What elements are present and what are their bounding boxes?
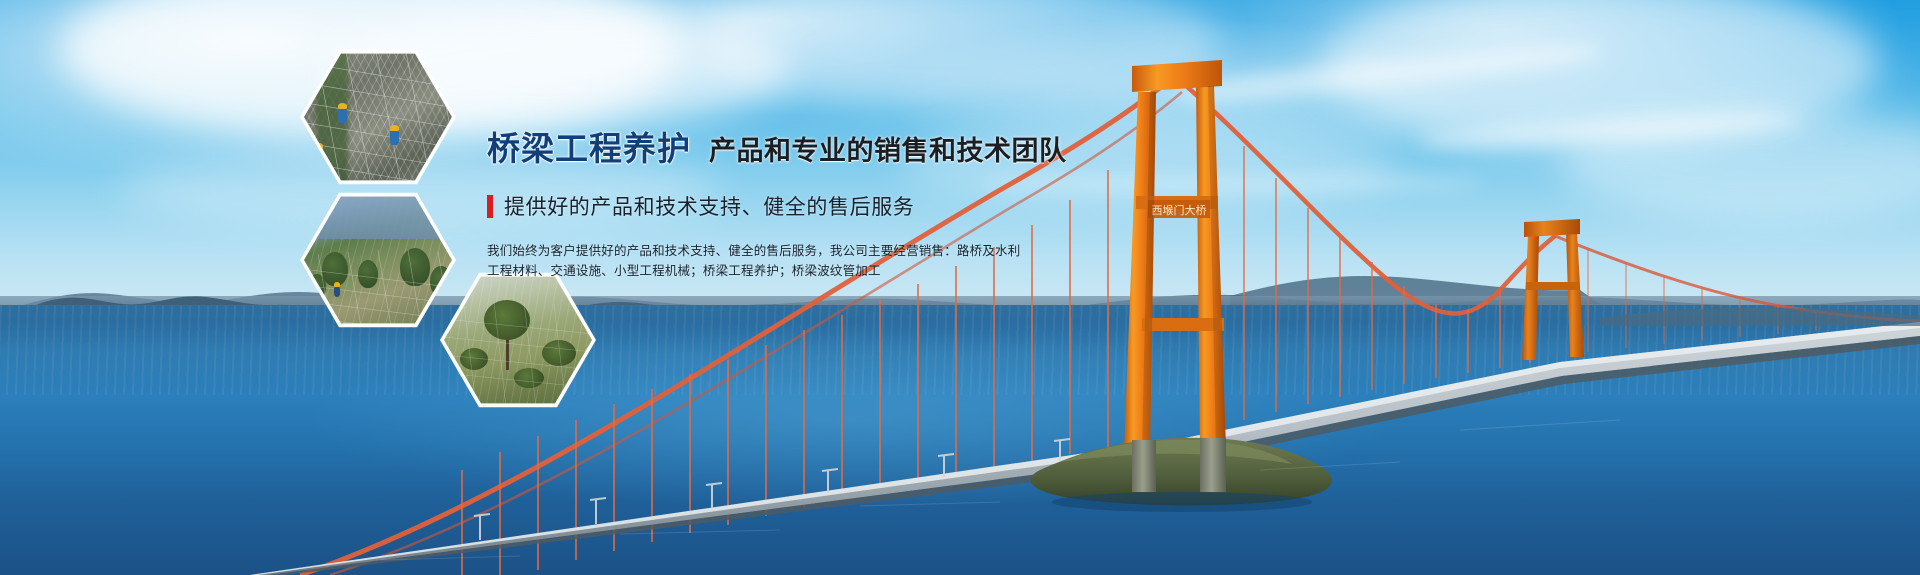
subheadline-row: 提供好的产品和技术支持、健全的售后服务 bbox=[487, 191, 1267, 221]
subheadline-text: 提供好的产品和技术支持、健全的售后服务 bbox=[504, 191, 914, 221]
worker-figure bbox=[338, 107, 347, 123]
hex-photo-hillside-slope-protection-net[interactable] bbox=[300, 190, 456, 330]
worker-figure bbox=[390, 129, 399, 145]
headline: 桥梁工程养护 产品和专业的销售和技术团队 bbox=[487, 122, 1267, 170]
headline-primary: 桥梁工程养护 bbox=[487, 122, 691, 170]
description-line-2: 工程材料、交通设施、小型工程机械；桥梁工程养护；桥梁波纹管加工 bbox=[487, 261, 1267, 281]
banner-text-block: 桥梁工程养护 产品和专业的销售和技术团队 提供好的产品和技术支持、健全的售后服务… bbox=[487, 122, 1267, 281]
headline-secondary: 产品和专业的销售和技术团队 bbox=[709, 129, 1067, 168]
description-paragraph: 我们始终为客户提供好的产品和技术支持、健全的售后服务，我公司主要经营销售：路桥及… bbox=[487, 241, 1267, 281]
worker-figure bbox=[316, 147, 323, 159]
suspension-bridge: 西堠门大桥 bbox=[0, 0, 1920, 575]
worker-figure bbox=[334, 286, 340, 297]
description-line-1: 我们始终为客户提供好的产品和技术支持、健全的售后服务，我公司主要经营销售：路桥及… bbox=[487, 241, 1267, 261]
hero-banner: 西堠门大桥 bbox=[0, 0, 1920, 575]
accent-bar-icon bbox=[487, 195, 493, 218]
hex-photo-vegetated-slope-with-mesh[interactable] bbox=[440, 270, 596, 410]
hex-photo-rock-slope-netting-workers[interactable] bbox=[300, 47, 456, 187]
